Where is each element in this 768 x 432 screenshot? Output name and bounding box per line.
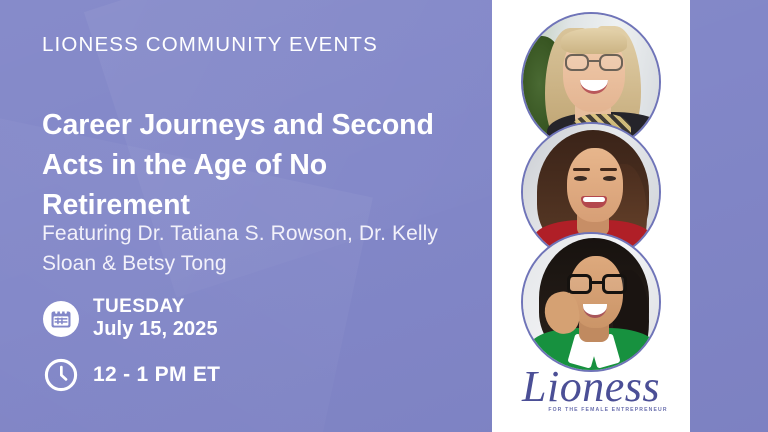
calendar-icon <box>42 300 80 338</box>
event-date-row: TUESDAY July 15, 2025 <box>42 296 220 341</box>
eyebrow-label: LIONESS COMMUNITY EVENTS <box>42 33 378 57</box>
event-day-of-week: TUESDAY <box>93 296 218 318</box>
logo-wordmark: Lioness <box>492 368 690 406</box>
event-time-value: 12 - 1 PM ET <box>93 363 220 387</box>
promo-text-column: LIONESS COMMUNITY EVENTS Career Journeys… <box>42 0 472 432</box>
clock-icon <box>42 356 80 394</box>
event-time-row: 12 - 1 PM ET <box>42 356 220 394</box>
event-details: TUESDAY July 15, 2025 12 - 1 PM ET <box>42 296 220 394</box>
event-full-date: July 15, 2025 <box>93 318 218 341</box>
page-title: Career Journeys and Second Acts in the A… <box>42 105 442 225</box>
speakers-card: Lioness FOR THE FEMALE ENTREPRENEUR <box>492 0 690 432</box>
featuring-speakers-text: Featuring Dr. Tatiana S. Rowson, Dr. Kel… <box>42 219 452 279</box>
lioness-logo: Lioness FOR THE FEMALE ENTREPRENEUR <box>492 368 690 413</box>
event-date-text: TUESDAY July 15, 2025 <box>93 296 218 341</box>
speaker-photo-3 <box>521 232 661 372</box>
event-promo-graphic: LIONESS COMMUNITY EVENTS Career Journeys… <box>0 0 768 432</box>
